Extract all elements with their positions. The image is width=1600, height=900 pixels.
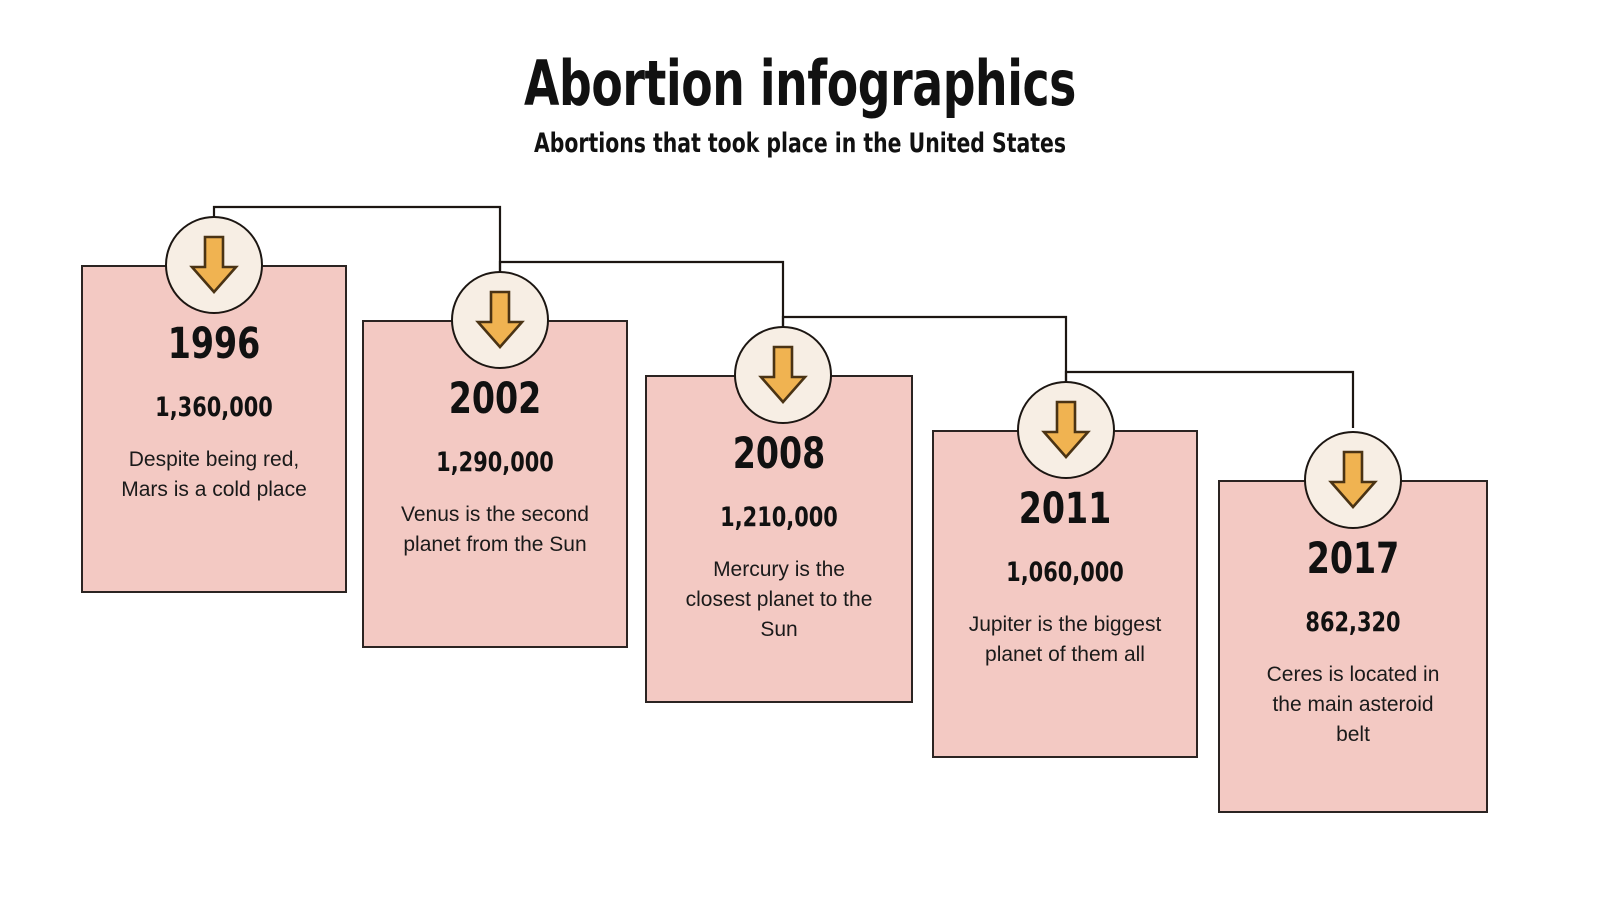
step-badge[interactable] bbox=[1304, 431, 1402, 529]
step-card[interactable]: 2002 1,290,000 Venus is the second plane… bbox=[362, 320, 628, 648]
step-description: Ceres is located in the main asteroid be… bbox=[1220, 660, 1486, 749]
step-description: Mercury is the closest planet to the Sun bbox=[647, 555, 911, 644]
step-description: Jupiter is the biggest planet of them al… bbox=[934, 610, 1196, 670]
header: Abortion infographics Abortions that too… bbox=[0, 52, 1600, 159]
step-description: Venus is the second planet from the Sun bbox=[364, 500, 626, 560]
down-arrow-icon bbox=[1327, 449, 1379, 511]
page-title: Abortion infographics bbox=[144, 52, 1456, 115]
step-badge[interactable] bbox=[451, 271, 549, 369]
step-card[interactable]: 2011 1,060,000 Jupiter is the biggest pl… bbox=[932, 430, 1198, 758]
down-arrow-icon bbox=[1040, 399, 1092, 461]
step-value: 1,060,000 bbox=[952, 559, 1177, 586]
step-year: 2002 bbox=[382, 378, 607, 421]
step-card[interactable]: 2017 862,320 Ceres is located in the mai… bbox=[1218, 480, 1488, 813]
down-arrow-icon bbox=[757, 344, 809, 406]
down-arrow-icon bbox=[474, 289, 526, 351]
step-value: 862,320 bbox=[1239, 609, 1468, 636]
page-subtitle: Abortions that took place in the United … bbox=[128, 129, 1472, 159]
step-value: 1,360,000 bbox=[101, 394, 326, 421]
step-badge[interactable] bbox=[1017, 381, 1115, 479]
step-value: 1,210,000 bbox=[665, 504, 892, 531]
step-card[interactable]: 1996 1,360,000 Despite being red, Mars i… bbox=[81, 265, 347, 593]
step-card[interactable]: 2008 1,210,000 Mercury is the closest pl… bbox=[645, 375, 913, 703]
step-value: 1,290,000 bbox=[382, 449, 607, 476]
step-year: 2008 bbox=[665, 433, 892, 476]
step-year: 1996 bbox=[101, 323, 326, 366]
step-badge[interactable] bbox=[165, 216, 263, 314]
step-year: 2011 bbox=[952, 488, 1177, 531]
step-year: 2017 bbox=[1239, 538, 1468, 581]
down-arrow-icon bbox=[188, 234, 240, 296]
step-description: Despite being red, Mars is a cold place bbox=[83, 445, 345, 505]
infographic-canvas: Abortion infographics Abortions that too… bbox=[0, 0, 1600, 900]
step-badge[interactable] bbox=[734, 326, 832, 424]
